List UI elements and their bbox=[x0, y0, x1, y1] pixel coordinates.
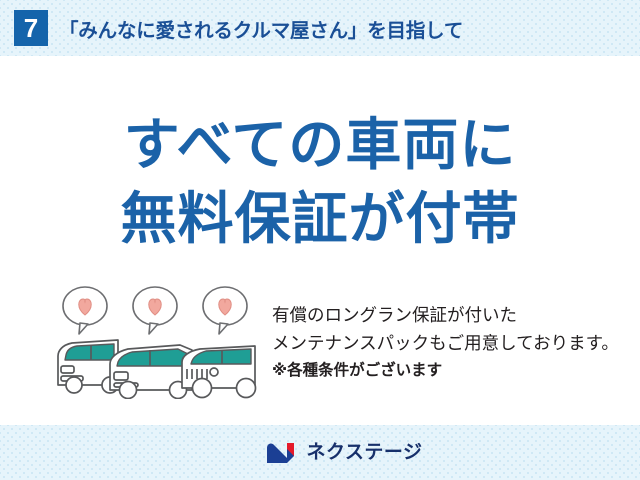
header-title: 「みんなに愛されるクルマ屋さん」を目指して bbox=[59, 14, 463, 43]
brand-logo-text: ネクステージ bbox=[306, 443, 422, 462]
main-content: すべての車両に 無料保証が付帯 bbox=[0, 56, 640, 425]
cars-illustration bbox=[50, 284, 265, 399]
car-left bbox=[58, 340, 118, 393]
body-copy: 有償のロングラン保証が付いた メンテナンスパックもご用意しております。 ※各種条… bbox=[272, 301, 619, 383]
headline: すべての車両に 無料保証が付帯 bbox=[0, 108, 640, 256]
nextage-n-logo-icon bbox=[265, 441, 299, 465]
headline-line-2: 無料保証が付帯 bbox=[0, 182, 640, 256]
body-line-1: 有償のロングラン保証が付いた bbox=[272, 301, 619, 329]
lower-row: 有償のロングラン保証が付いた メンテナンスパックもご用意しております。 ※各種条… bbox=[0, 284, 640, 404]
car-right bbox=[182, 346, 256, 398]
footer-band: ネクステージ bbox=[0, 425, 640, 480]
header-band: 7 「みんなに愛されるクルマ屋さん」を目指して bbox=[0, 0, 640, 56]
car-center bbox=[110, 345, 192, 399]
brand-logo: ネクステージ bbox=[265, 441, 422, 465]
body-line-2: メンテナンスパックもご用意しております。 bbox=[272, 329, 619, 357]
promo-banner: 7 「みんなに愛されるクルマ屋さん」を目指して すべての車両に 無料保証が付帯 bbox=[0, 0, 640, 480]
body-note: ※各種条件がございます bbox=[272, 358, 619, 383]
headline-line-1: すべての車両に bbox=[0, 108, 640, 182]
section-number-badge: 7 bbox=[14, 10, 48, 46]
